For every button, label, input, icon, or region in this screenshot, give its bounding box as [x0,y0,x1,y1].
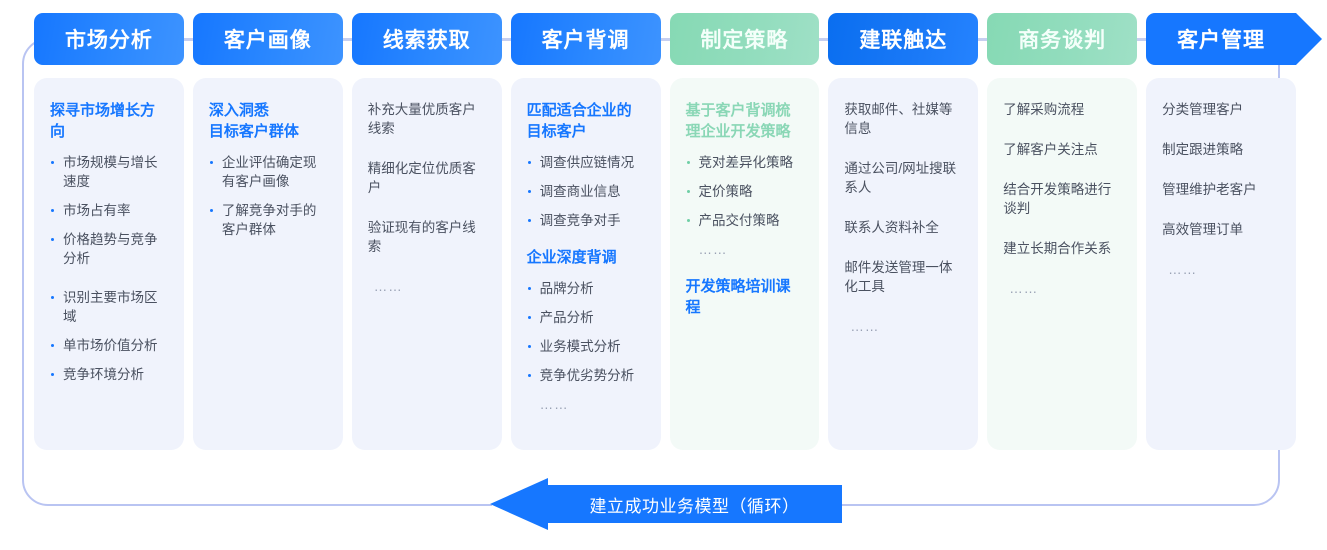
stage-group: 探寻市场增长方向市场规模与增长速度市场占有率价格趋势与竞争分析 [50,100,168,268]
stage-tab-label: 客户背调 [542,24,630,54]
list-item: 市场占有率 [50,201,168,220]
list-item: 产品分析 [527,308,645,327]
group-heading: 探寻市场增长方向 [50,100,168,142]
stage-panel-2: 深入洞悉目标客户群体企业评估确定现有客户画像了解竞争对手的客户群体 [193,78,343,450]
group-heading: 开发策略培训课程 [686,276,804,318]
stage-group: 识别主要市场区域单市场价值分析竞争环境分析 [50,278,168,384]
list-item: …… [1003,279,1121,298]
stage-panel-8: 分类管理客户制定跟进策略管理维护老客户高效管理订单…… [1146,78,1296,450]
list-item: 邮件发送管理一体化工具 [844,258,962,296]
list-item: 调查供应链情况 [527,153,645,172]
list-item: 补充大量优质客户线索 [368,100,486,138]
list-item: 制定跟进策略 [1162,140,1280,159]
tab-connector-4 [661,38,670,41]
list-item: 了解采购流程 [1003,100,1121,119]
list-item: 管理维护老客户 [1162,180,1280,199]
pennant-arrow-icon [1296,13,1322,65]
stage-tab-row: 市场分析客户画像线索获取客户背调制定策略建联触达商务谈判客户管理 [34,13,1296,65]
stage-panel-6: 获取邮件、社媒等信息通过公司/网址搜联系人联系人资料补全邮件发送管理一体化工具…… [828,78,978,450]
stage-tab-label: 客户画像 [224,24,312,54]
stage-panel-3: 补充大量优质客户线索精细化定位优质客户验证现有的客户线索…… [352,78,502,450]
stage-group: 匹配适合企业的目标客户调查供应链情况调查商业信息调查竞争对手 [527,100,645,230]
stage-tab-5[interactable]: 制定策略 [670,13,820,65]
group-item-list: 补充大量优质客户线索精细化定位优质客户验证现有的客户线索…… [368,100,486,296]
stage-group: 了解采购流程了解客户关注点结合开发策略进行谈判建立长期合作关系…… [1003,100,1121,298]
list-item: 联系人资料补全 [844,218,962,237]
group-item-list: 识别主要市场区域单市场价值分析竞争环境分析 [50,288,168,384]
list-item: …… [527,395,645,414]
stage-tab-label: 客户管理 [1177,24,1265,54]
list-item: 定价策略 [686,182,804,201]
stage-tab-7[interactable]: 商务谈判 [987,13,1137,65]
list-item: 分类管理客户 [1162,100,1280,119]
group-heading-line: 理企业开发策略 [686,121,804,142]
list-item: …… [686,240,804,259]
tab-connector-5 [819,38,828,41]
list-item: 企业评估确定现有客户画像 [209,153,327,191]
tab-connector-6 [978,38,987,41]
stage-tab-label: 商务谈判 [1018,24,1106,54]
stage-tab-label: 建联触达 [859,24,947,54]
group-heading-line: 基于客户背调梳 [686,100,804,121]
list-item: 结合开发策略进行谈判 [1003,180,1121,218]
stage-tab-4[interactable]: 客户背调 [511,13,661,65]
group-item-list: 了解采购流程了解客户关注点结合开发策略进行谈判建立长期合作关系…… [1003,100,1121,298]
tab-connector-2 [343,38,352,41]
stage-tab-8[interactable]: 客户管理 [1146,13,1296,65]
stage-tab-3[interactable]: 线索获取 [352,13,502,65]
flow-diagram: 市场分析客户画像线索获取客户背调制定策略建联触达商务谈判客户管理 探寻市场增长方… [0,0,1327,550]
group-heading-line: 目标客户群体 [209,121,327,142]
group-heading-line: 目标客户 [527,121,645,142]
list-item: 产品交付策略 [686,211,804,230]
stage-tab-label: 市场分析 [65,24,153,54]
tab-connector-1 [184,38,193,41]
cycle-banner-label: 建立成功业务模型（循环） [547,485,842,523]
tab-connector-7 [1137,38,1146,41]
group-item-list: 市场规模与增长速度市场占有率价格趋势与竞争分析 [50,153,168,268]
stage-panel-5: 基于客户背调梳理企业开发策略竞对差异化策略定价策略产品交付策略……开发策略培训课… [670,78,820,450]
list-item: 市场规模与增长速度 [50,153,168,191]
list-item: 了解竞争对手的客户群体 [209,201,327,239]
list-item: …… [368,277,486,296]
list-item: 识别主要市场区域 [50,288,168,326]
group-heading: 匹配适合企业的目标客户 [527,100,645,142]
list-item: 品牌分析 [527,279,645,298]
group-heading: 企业深度背调 [527,247,645,268]
tab-connector-3 [502,38,511,41]
list-item: 了解客户关注点 [1003,140,1121,159]
stage-group: 基于客户背调梳理企业开发策略竞对差异化策略定价策略产品交付策略…… [686,100,804,259]
group-heading: 深入洞悉目标客户群体 [209,100,327,142]
list-item: …… [844,317,962,336]
stage-panel-1: 探寻市场增长方向市场规模与增长速度市场占有率价格趋势与竞争分析识别主要市场区域单… [34,78,184,450]
stage-group: 分类管理客户制定跟进策略管理维护老客户高效管理订单…… [1162,100,1280,279]
group-heading-line: 深入洞悉 [209,100,327,121]
stage-panel-row: 探寻市场增长方向市场规模与增长速度市场占有率价格趋势与竞争分析识别主要市场区域单… [34,78,1296,450]
stage-tab-label: 制定策略 [700,24,788,54]
list-item: 竞争环境分析 [50,365,168,384]
stage-panel-7: 了解采购流程了解客户关注点结合开发策略进行谈判建立长期合作关系…… [987,78,1137,450]
stage-tab-2[interactable]: 客户画像 [193,13,343,65]
group-item-list: 分类管理客户制定跟进策略管理维护老客户高效管理订单…… [1162,100,1280,279]
list-item: 获取邮件、社媒等信息 [844,100,962,138]
group-heading-line: 匹配适合企业的 [527,100,645,121]
group-item-list: 竞对差异化策略定价策略产品交付策略…… [686,153,804,259]
list-item: 价格趋势与竞争分析 [50,230,168,268]
stage-group: 补充大量优质客户线索精细化定位优质客户验证现有的客户线索…… [368,100,486,296]
group-heading: 基于客户背调梳理企业开发策略 [686,100,804,142]
group-spacer [50,278,168,288]
group-heading-line: 探寻市场增长方向 [50,100,168,142]
stage-panel-4: 匹配适合企业的目标客户调查供应链情况调查商业信息调查竞争对手企业深度背调品牌分析… [511,78,661,450]
cycle-banner: 建立成功业务模型（循环） [490,478,842,530]
group-heading-line: 企业深度背调 [527,247,645,268]
list-item: 业务模式分析 [527,337,645,356]
list-item: 调查竞争对手 [527,211,645,230]
list-item: 通过公司/网址搜联系人 [844,159,962,197]
stage-group: 企业深度背调品牌分析产品分析业务模式分析竞争优劣势分析…… [527,247,645,414]
list-item: 精细化定位优质客户 [368,159,486,197]
stage-tab-1[interactable]: 市场分析 [34,13,184,65]
group-item-list: 获取邮件、社媒等信息通过公司/网址搜联系人联系人资料补全邮件发送管理一体化工具…… [844,100,962,336]
list-item: 验证现有的客户线索 [368,218,486,256]
cycle-arrow-head-icon [490,478,548,530]
group-item-list: 调查供应链情况调查商业信息调查竞争对手 [527,153,645,230]
group-item-list: 品牌分析产品分析业务模式分析竞争优劣势分析…… [527,279,645,414]
stage-group: 深入洞悉目标客户群体企业评估确定现有客户画像了解竞争对手的客户群体 [209,100,327,239]
list-item: 竞对差异化策略 [686,153,804,172]
stage-tab-label: 线索获取 [383,24,471,54]
list-item: 调查商业信息 [527,182,645,201]
list-item: 单市场价值分析 [50,336,168,355]
group-heading-line: 开发策略培训课程 [686,276,804,318]
stage-tab-6[interactable]: 建联触达 [828,13,978,65]
group-item-list: 企业评估确定现有客户画像了解竞争对手的客户群体 [209,153,327,239]
list-item: 高效管理订单 [1162,220,1280,239]
list-item: …… [1162,260,1280,279]
stage-group: 获取邮件、社媒等信息通过公司/网址搜联系人联系人资料补全邮件发送管理一体化工具…… [844,100,962,336]
list-item: 竞争优劣势分析 [527,366,645,385]
list-item: 建立长期合作关系 [1003,239,1121,258]
stage-group: 开发策略培训课程 [686,276,804,318]
